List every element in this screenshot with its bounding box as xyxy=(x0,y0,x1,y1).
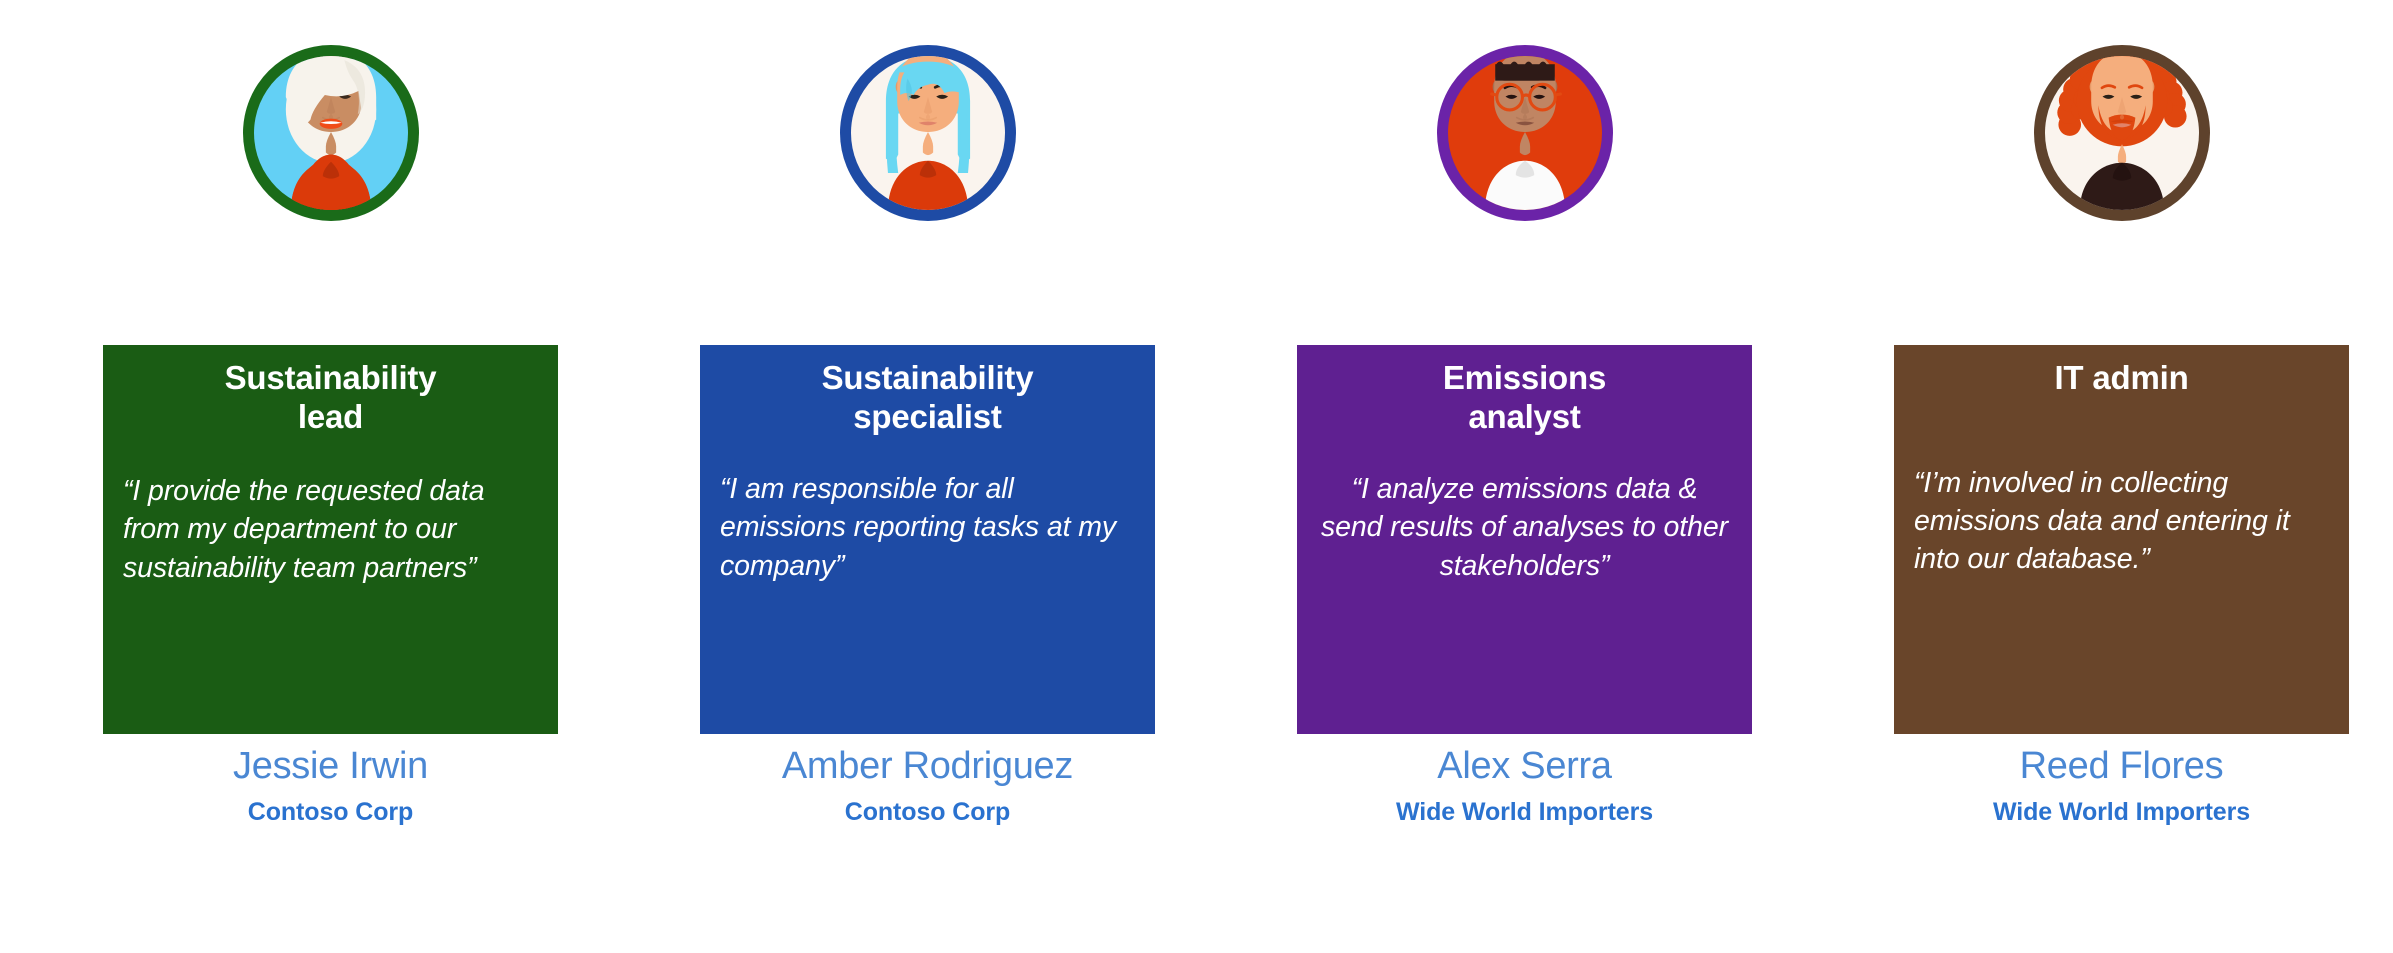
persona-board: Sustainabilitylead“I provide the request… xyxy=(0,0,2393,953)
role-title: Sustainabilitylead xyxy=(121,359,540,436)
role-quote: “I analyze emissions data & send results… xyxy=(1315,470,1734,585)
older-woman-white-bob-hair-avatar-icon xyxy=(254,56,408,210)
avatar xyxy=(840,45,1016,221)
avatar xyxy=(243,45,419,221)
persona-footer: Alex SerraWide World Importers xyxy=(1297,745,1752,827)
avatar-ring xyxy=(1437,45,1613,221)
persona-company: Contoso Corp xyxy=(103,797,558,827)
persona-footer: Jessie IrwinContoso Corp xyxy=(103,745,558,827)
role-title: IT admin xyxy=(1912,359,2331,398)
avatar-ring xyxy=(840,45,1016,221)
persona-card-sustainability-specialist: Sustainabilityspecialist“I am responsibl… xyxy=(700,0,1155,953)
persona-company: Wide World Importers xyxy=(1894,797,2349,827)
role-block: Sustainabilitylead“I provide the request… xyxy=(103,345,558,734)
avatar-ring xyxy=(243,45,419,221)
role-quote: “I’m involved in collecting emissions da… xyxy=(1912,464,2331,579)
role-title: Sustainabilityspecialist xyxy=(718,359,1137,436)
persona-name: Jessie Irwin xyxy=(103,745,558,789)
persona-card-emissions-analyst: Emissionsanalyst“I analyze emissions dat… xyxy=(1297,0,1752,953)
persona-company: Contoso Corp xyxy=(700,797,1155,827)
persona-company: Wide World Importers xyxy=(1297,797,1752,827)
avatar-ring xyxy=(2034,45,2210,221)
role-block: IT admin“I’m involved in collecting emis… xyxy=(1894,345,2349,734)
role-block: Emissionsanalyst“I analyze emissions dat… xyxy=(1297,345,1752,734)
role-quote: “I am responsible for all emissions repo… xyxy=(718,470,1137,585)
role-title: Emissionsanalyst xyxy=(1315,359,1734,436)
role-quote: “I provide the requested data from my de… xyxy=(121,472,540,587)
person-flat-top-hair-orange-glasses-avatar-icon xyxy=(1448,56,1602,210)
persona-footer: Reed FloresWide World Importers xyxy=(1894,745,2349,827)
persona-card-sustainability-lead: Sustainabilitylead“I provide the request… xyxy=(103,0,558,953)
persona-name: Alex Serra xyxy=(1297,745,1752,789)
persona-card-it-admin: IT admin“I’m involved in collecting emis… xyxy=(1894,0,2349,953)
person-curly-red-hair-beard-avatar-icon xyxy=(2045,56,2199,210)
avatar xyxy=(1437,45,1613,221)
role-block: Sustainabilityspecialist“I am responsibl… xyxy=(700,345,1155,734)
persona-footer: Amber RodriguezContoso Corp xyxy=(700,745,1155,827)
person-light-blue-hair-avatar-icon xyxy=(851,56,1005,210)
persona-name: Reed Flores xyxy=(1894,745,2349,789)
persona-name: Amber Rodriguez xyxy=(700,745,1155,789)
avatar xyxy=(2034,45,2210,221)
